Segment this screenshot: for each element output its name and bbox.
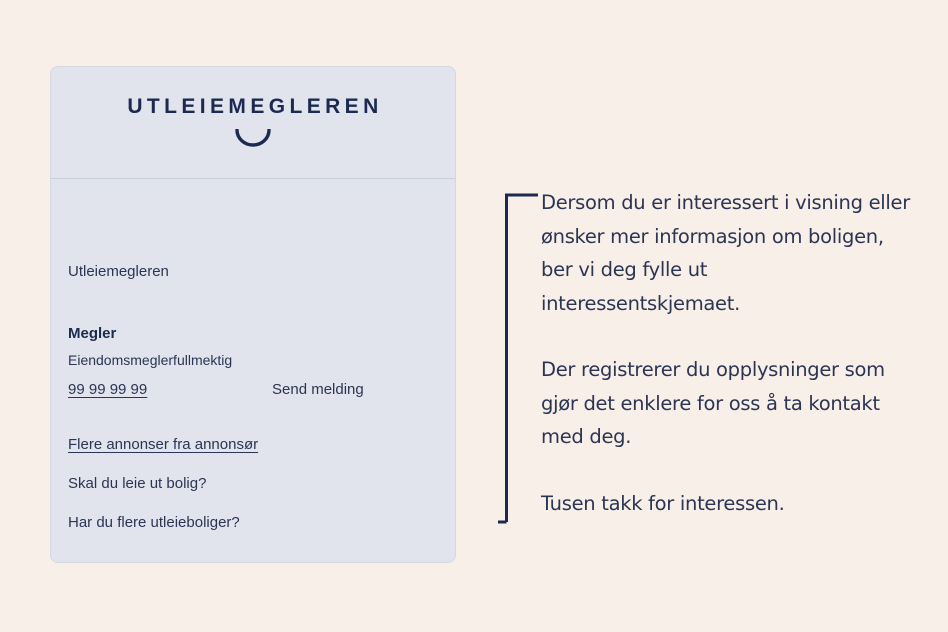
- rent-out-home-link[interactable]: Skal du leie ut bolig?: [68, 476, 206, 491]
- card-header: UTLEIEMEGLEREN: [51, 67, 455, 179]
- utleiemegleren-logo-wordmark: UTLEIEMEGLEREN: [123, 96, 382, 117]
- annotation-paragraph-3: Tusen takk for interessen.: [541, 487, 911, 521]
- smile-arc-icon: [233, 129, 273, 149]
- multiple-rentals-link[interactable]: Har du flere utleieboliger?: [68, 515, 240, 530]
- more-ads-from-advertiser-link[interactable]: Flere annonser fra annonsør: [68, 437, 258, 452]
- annotation-text-block: Dersom du er interessert i visning eller…: [541, 186, 911, 520]
- annotation-paragraph-1: Dersom du er interessert i visning eller…: [541, 186, 911, 320]
- send-message-link[interactable]: Send melding: [272, 382, 364, 397]
- annotation-paragraph-2: Der registrerer du opplysninger som gjør…: [541, 353, 911, 454]
- agent-role-subtitle: Eiendomsmeglerfullmektig: [68, 353, 232, 367]
- broker-contact-card: UTLEIEMEGLEREN Utleiemegleren Megler Eie…: [50, 66, 456, 563]
- company-name: Utleiemegleren: [68, 264, 169, 279]
- phone-number-link[interactable]: 99 99 99 99: [68, 382, 147, 397]
- contact-row: 99 99 99 99 Send melding: [68, 382, 438, 402]
- agent-role-title: Megler: [68, 326, 116, 341]
- card-body: Utleiemegleren Megler Eiendomsmeglerfull…: [51, 179, 455, 562]
- screenshot-canvas: UTLEIEMEGLEREN Utleiemegleren Megler Eie…: [0, 0, 948, 632]
